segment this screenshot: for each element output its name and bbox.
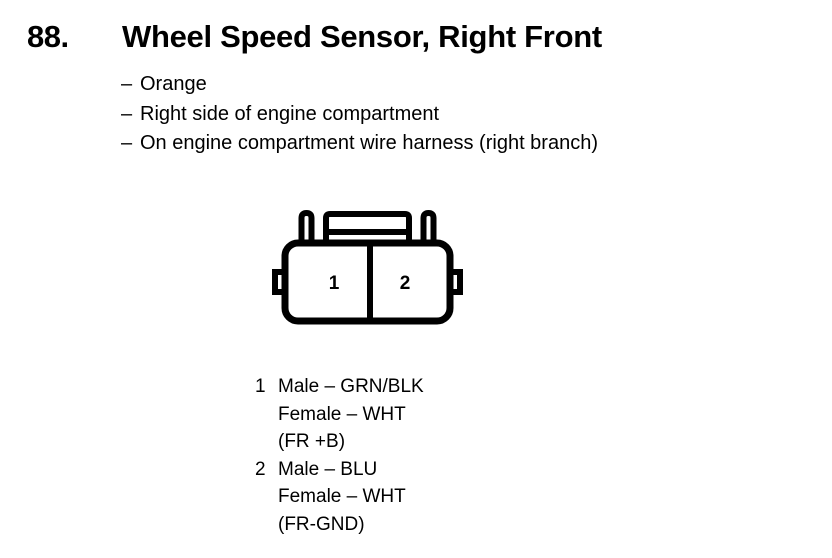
pin-cavity-1-label: 1 bbox=[329, 273, 340, 294]
dash-icon: – bbox=[121, 129, 140, 159]
pin-legend: 1 Male – GRN/BLK Female – WHT (FR +B) 2 … bbox=[255, 373, 655, 538]
legend-circuit-name: (FR +B) bbox=[278, 428, 424, 456]
legend-row-pin-2: 2 Male – BLU Female – WHT (FR-GND) bbox=[255, 456, 655, 539]
detail-item-location: – Right side of engine compartment bbox=[121, 100, 821, 130]
right-latch-tab-icon bbox=[424, 213, 434, 243]
legend-pin-details: Male – BLU Female – WHT (FR-GND) bbox=[278, 456, 406, 539]
legend-male-wire: Male – BLU bbox=[278, 456, 406, 484]
detail-item-label: Orange bbox=[140, 70, 207, 100]
legend-male-wire: Male – GRN/BLK bbox=[278, 373, 424, 401]
entry-number: 88. bbox=[27, 19, 69, 55]
legend-row-pin-1: 1 Male – GRN/BLK Female – WHT (FR +B) bbox=[255, 373, 655, 456]
legend-female-wire: Female – WHT bbox=[278, 401, 424, 429]
legend-pin-number: 1 bbox=[255, 373, 278, 401]
legend-circuit-name: (FR-GND) bbox=[278, 511, 406, 539]
legend-pin-number: 2 bbox=[255, 456, 278, 484]
legend-female-wire: Female – WHT bbox=[278, 483, 406, 511]
detail-item-harness: – On engine compartment wire harness (ri… bbox=[121, 129, 821, 159]
detail-list: – Orange – Right side of engine compartm… bbox=[121, 70, 821, 159]
dash-icon: – bbox=[121, 70, 140, 100]
legend-pin-details: Male – GRN/BLK Female – WHT (FR +B) bbox=[278, 373, 424, 456]
pin-cavity-2-label: 2 bbox=[400, 273, 411, 294]
detail-item-color: – Orange bbox=[121, 70, 821, 100]
detail-item-label: Right side of engine compartment bbox=[140, 100, 439, 130]
connector-diagram: 1 2 bbox=[265, 205, 470, 330]
left-latch-tab-icon bbox=[302, 213, 312, 243]
dash-icon: – bbox=[121, 100, 140, 130]
page-title: Wheel Speed Sensor, Right Front bbox=[122, 19, 602, 55]
connector-drawing: 1 2 bbox=[265, 205, 470, 330]
detail-item-label: On engine compartment wire harness (righ… bbox=[140, 129, 598, 159]
